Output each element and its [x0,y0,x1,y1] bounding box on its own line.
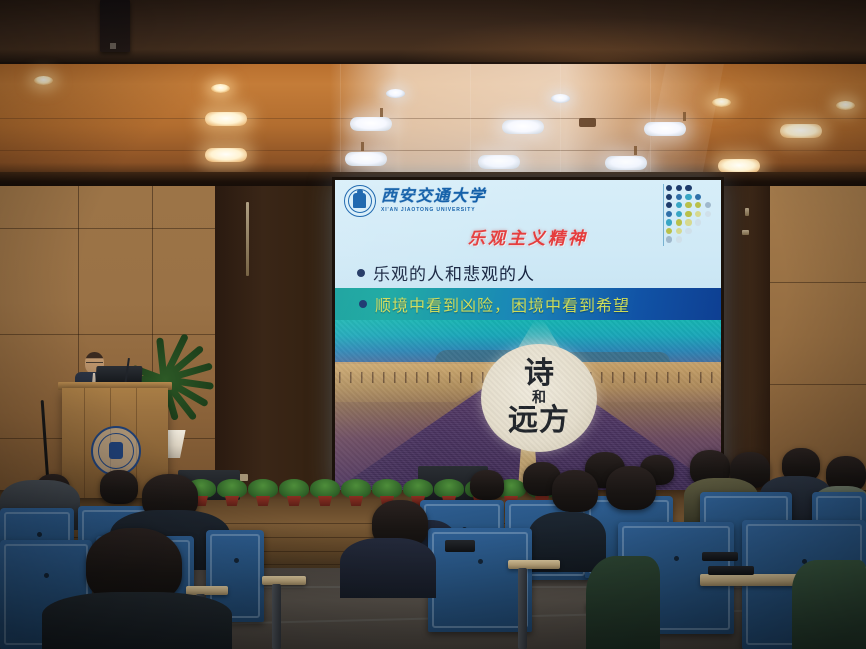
seat-leg [272,584,281,649]
university-crest-icon [344,185,376,217]
ceiling-strip-light [478,155,520,169]
matrix-dot [666,211,672,217]
wall-light-slit [742,230,749,235]
overlay-line-1: 诗 [524,360,554,389]
audience-device[interactable] [702,552,738,561]
seat-writing-tray[interactable] [508,560,560,569]
university-logo: 西安交通大学 XI'AN JIAOTONG UNIVERSITY [344,185,486,217]
ceiling-downlight [836,101,855,110]
matrix-dot [685,202,691,208]
audience-shoulder [340,538,436,598]
slide-title: 乐观主义精神 [335,224,721,249]
matrix-dot [666,202,672,208]
plant-pot [256,496,270,506]
plant-pot [349,496,363,506]
matrix-dot [695,202,701,208]
potted-plant [279,476,309,506]
audience-head [470,470,504,500]
ceiling-light-band [0,64,866,176]
ceiling-strip-light [350,117,392,131]
slide-bullet-2-text: 顺境中看到凶险，困境中看到希望 [375,292,630,316]
ceiling-strip-light [205,148,247,162]
matrix-dot [695,194,701,200]
wall-dark-column-left [215,186,335,516]
ceiling-speaker-box [100,0,130,52]
potted-plant [248,476,278,506]
matrix-dot [685,194,691,200]
plant-foliage [372,479,402,498]
matrix-dot [676,185,682,191]
slide-bullet-1: 乐观的人和悲观的人 [357,260,535,285]
ceiling-strip-light [605,156,647,170]
lecture-hall-photo: 西安交通大学 XI'AN JIAOTONG UNIVERSITY 乐观主义精神 … [0,0,866,649]
photo-fence-left [339,372,499,383]
audience-head [100,470,138,504]
wall-light-slit [246,202,249,276]
seat-writing-tray[interactable] [700,574,798,586]
matrix-dot [676,194,682,200]
ceiling-strip-light [345,152,387,166]
matrix-dot [685,185,691,191]
matrix-dot [705,185,711,191]
matrix-dot [705,211,711,217]
matrix-dot [676,202,682,208]
plant-foliage [279,479,309,498]
slide-bullet-1-text: 乐观的人和悲观的人 [373,260,535,285]
matrix-dot [676,211,682,217]
potted-plant [341,476,371,506]
bullet-dot-icon [359,300,367,308]
matrix-dot [705,202,711,208]
ceiling-vent [579,118,596,127]
audience-shoulder [792,560,866,649]
matrix-dot [685,211,691,217]
matrix-dot [666,194,672,200]
ceiling-strip-light [644,122,686,136]
seat-leg [518,568,527,649]
plant-foliage [341,479,371,498]
ceiling-downlight [211,84,230,93]
audience-shoulder [586,556,660,649]
ceiling-downlight [551,94,570,103]
wall-light-slit [745,208,749,216]
seat-writing-tray[interactable] [262,576,306,585]
matrix-dot [695,211,701,217]
ceiling-downlight [712,98,731,107]
ceiling-downlight [34,76,53,85]
university-name-cn: 西安交通大学 [381,189,486,205]
potted-plant [310,476,340,506]
seat-writing-tray[interactable] [186,586,228,595]
plant-foliage [403,479,433,498]
ceiling-downlight [386,89,405,98]
plant-pot [287,496,301,506]
audience-head [606,466,656,510]
plant-pot [318,496,332,506]
projection-screen: 西安交通大学 XI'AN JIAOTONG UNIVERSITY 乐观主义精神 … [335,180,721,490]
matrix-dot [695,185,701,191]
audience-head [552,470,598,512]
matrix-dot [705,194,711,200]
ceiling-sprinkler [361,142,364,151]
slide-title-text: 乐观主义精神 [468,229,588,248]
audience-shoulder [42,592,232,649]
bullet-dot-icon [357,269,365,277]
slide-header-area: 西安交通大学 XI'AN JIAOTONG UNIVERSITY 乐观主义精神 … [335,180,721,316]
potted-plant [217,476,247,506]
ceiling-strip-light [502,120,544,134]
slide-bullet-2-band: 顺境中看到凶险，困境中看到希望 [335,288,721,320]
audience-device[interactable] [708,566,754,575]
ceiling-strip-light [718,159,760,173]
plant-foliage [217,479,247,498]
overlay-line-3: 远方 [508,406,570,436]
plant-pot [225,496,239,506]
plant-foliage [434,479,464,498]
podium-crest-icon [91,426,141,476]
ceiling-sprinkler [380,108,383,117]
ceiling-strip-light [780,124,822,138]
ceiling-sprinkler [634,146,637,155]
audience-seat[interactable] [428,528,532,632]
photo-text-oval: 诗 和 远方 [481,344,597,452]
plant-foliage [310,479,340,498]
university-name-en: XI'AN JIAOTONG UNIVERSITY [381,207,486,213]
ceiling-sprinkler [683,112,686,121]
ceiling-strip-light [205,112,247,126]
plant-foliage [248,479,278,498]
audience-device[interactable] [445,540,475,552]
matrix-dot [666,185,672,191]
